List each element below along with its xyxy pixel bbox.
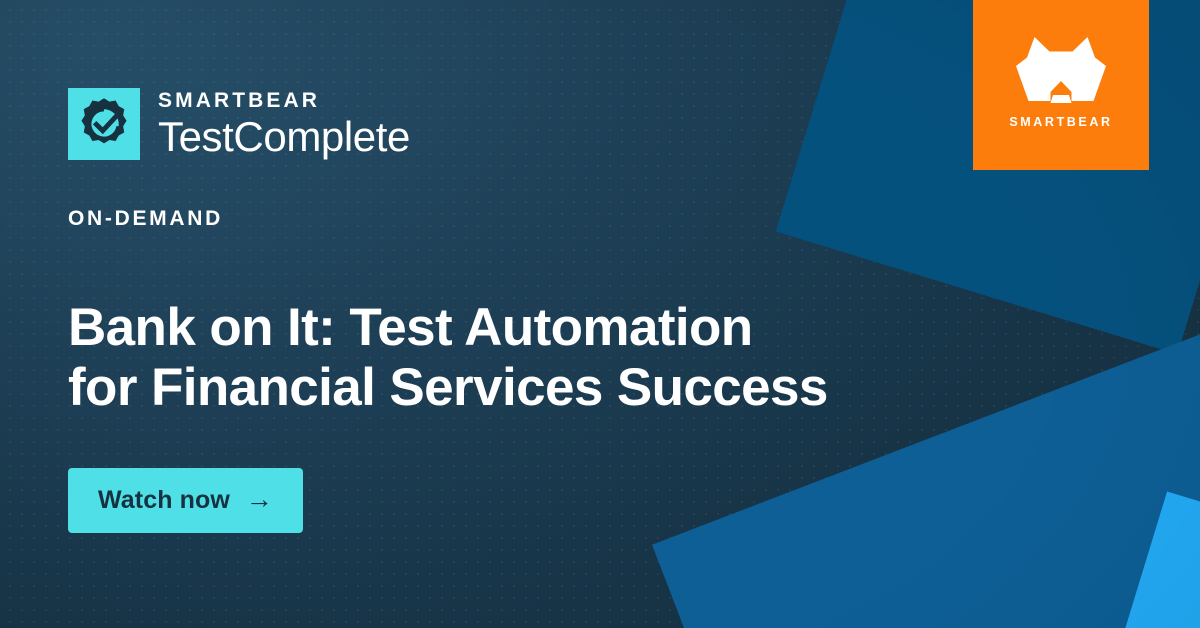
product-lockup-text: SMARTBEAR TestComplete <box>158 88 410 159</box>
page-title: Bank on It: Test Automation for Financia… <box>68 298 928 419</box>
headline-line-2: for Financial Services Success <box>68 358 928 418</box>
watch-now-button[interactable]: Watch now → <box>68 468 303 533</box>
smartbear-logo-tile: SMARTBEAR <box>973 0 1149 170</box>
content-column: SMARTBEAR TestComplete ON-DEMAND Bank on… <box>68 0 908 628</box>
smartbear-bear-head-icon <box>1009 35 1113 107</box>
watch-now-label: Watch now <box>98 488 230 513</box>
promo-banner: SMARTBEAR SMARTBEAR TestComplete ON-DEMA… <box>0 0 1200 628</box>
product-lockup: SMARTBEAR TestComplete <box>68 88 410 160</box>
lockup-brand-name: SMARTBEAR <box>158 90 410 111</box>
eyebrow-label: ON-DEMAND <box>68 208 223 229</box>
lockup-product-name: TestComplete <box>158 116 410 159</box>
arrow-right-icon: → <box>246 486 273 513</box>
smartbear-wordmark: SMARTBEAR <box>1009 116 1112 129</box>
headline-line-1: Bank on It: Test Automation <box>68 298 928 358</box>
verified-badge-check-icon <box>77 97 131 151</box>
testcomplete-badge-tile <box>68 88 140 160</box>
